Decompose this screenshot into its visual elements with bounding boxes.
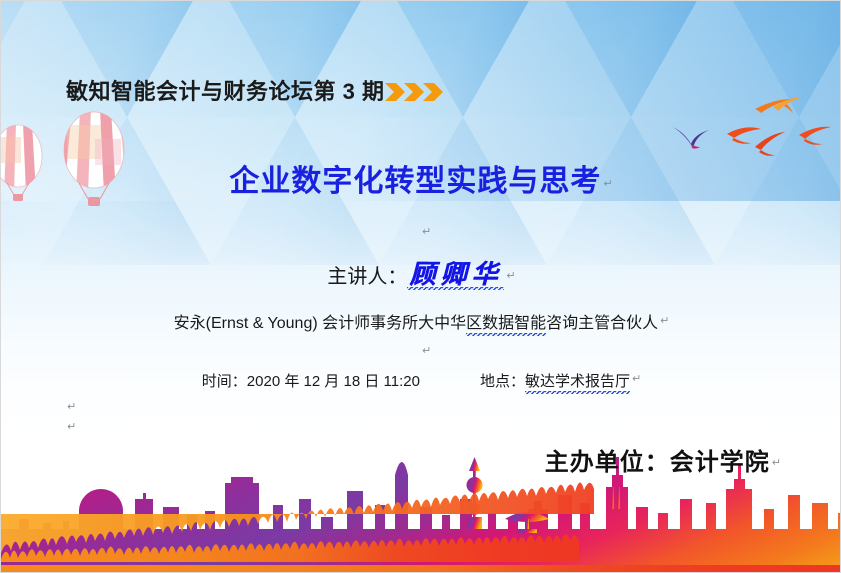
organizer-line: 主办单位：会计学院↵ bbox=[1, 442, 841, 477]
paragraph-mark-time: ↵ bbox=[630, 373, 641, 385]
page-title-text: 企业数字化转型实践与思考 bbox=[229, 165, 601, 198]
location-label: 地点： bbox=[480, 373, 525, 390]
poster-canvas: 敏知智能会计与财务论坛第 3 期 企业数字化转型实践与思考↵ 主讲人：顾卿华↵ … bbox=[0, 0, 841, 573]
bird-purple bbox=[673, 127, 709, 149]
page-title: 企业数字化转型实践与思考↵ bbox=[1, 156, 841, 200]
triple-chevron-right-icon bbox=[385, 81, 443, 108]
forum-header-text: 敏知智能会计与财务论坛第 3 期 bbox=[66, 74, 384, 106]
paragraph-mark-speaker: ↵ bbox=[504, 270, 515, 282]
affiliation-line: 安永(Ernst & Young) 会计师事务所大中华区数据智能咨询主管合伙人↵ bbox=[1, 309, 841, 333]
organizer-label: 主办单位： bbox=[545, 449, 670, 476]
paragraph-mark-affiliation: ↵ bbox=[658, 315, 669, 327]
paragraph-mark-empty-3: ↵ bbox=[422, 225, 431, 238]
bird-orange-4 bbox=[799, 127, 831, 145]
time-value: 2020 年 12 月 18 日 11:20 bbox=[247, 373, 420, 390]
time-label: 时间： bbox=[202, 373, 247, 390]
birds-flock bbox=[669, 93, 841, 165]
speaker-line: 主讲人：顾卿华↵ bbox=[1, 254, 841, 291]
speaker-label: 主讲人： bbox=[327, 266, 407, 288]
paragraph-mark-title: ↵ bbox=[601, 178, 613, 190]
affiliation-suffix: 咨询主管合伙人 bbox=[546, 315, 658, 332]
paragraph-mark-empty-4: ↵ bbox=[422, 344, 431, 357]
speaker-name: 顾卿华 bbox=[407, 260, 504, 290]
bird-orange-2 bbox=[727, 127, 761, 143]
affiliation-prefix: 安永(Ernst & Young) 会计师事务所大中华 bbox=[174, 315, 467, 332]
paragraph-mark-empty-1: ↵ bbox=[67, 400, 76, 413]
bird-orange-3 bbox=[755, 132, 785, 156]
organizer-value: 会计学院 bbox=[670, 449, 770, 476]
paragraph-mark-organizer: ↵ bbox=[770, 457, 782, 469]
paragraph-mark-empty-2: ↵ bbox=[67, 420, 76, 433]
location-value: 敏达学术报告厅 bbox=[525, 373, 630, 394]
affiliation-underlined: 区数据智能 bbox=[466, 315, 546, 336]
time-location-line: 时间：2020 年 12 月 18 日 11:20地点：敏达学术报告厅↵ bbox=[1, 370, 841, 391]
